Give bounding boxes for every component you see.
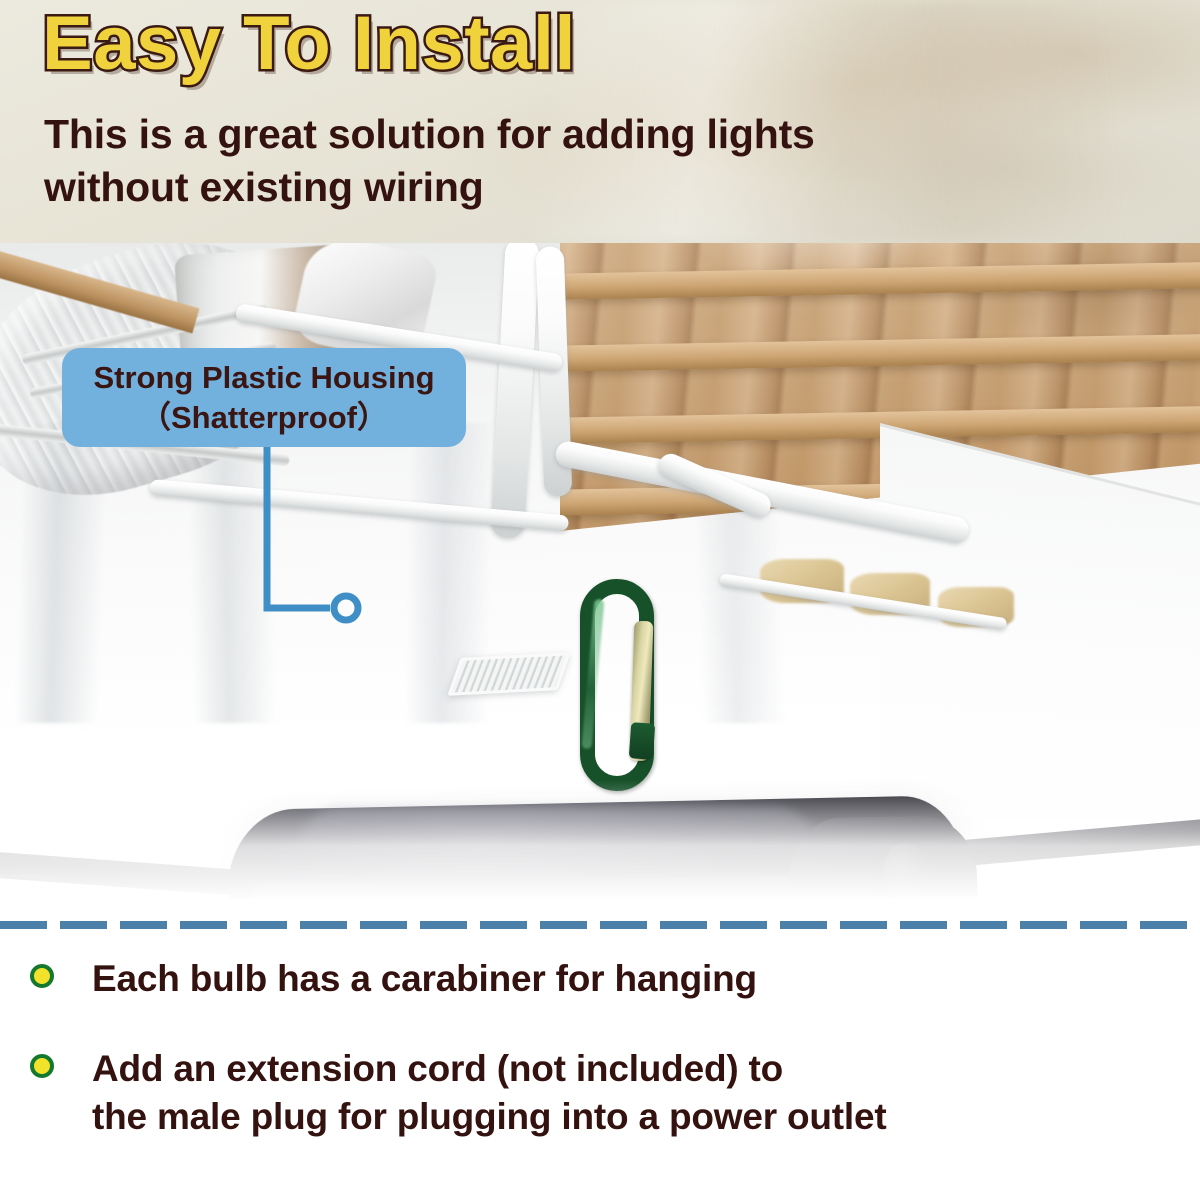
callout-line-2: （Shatterproof） xyxy=(140,398,388,438)
subtitle-line-1: This is a great solution for adding ligh… xyxy=(44,108,1054,161)
list-item: Add an extension cord (not included) to … xyxy=(0,1045,1200,1141)
page-subtitle: This is a great solution for adding ligh… xyxy=(44,108,1054,215)
bullet-marker-icon xyxy=(30,1054,54,1078)
callout-line-1: Strong Plastic Housing xyxy=(93,358,434,398)
feature-bullet-list: Each bulb has a carabiner for hanging Ad… xyxy=(0,955,1200,1183)
product-photo xyxy=(0,243,1200,900)
photo-bottom-fade xyxy=(0,780,1200,900)
subtitle-line-2: without existing wiring xyxy=(44,161,1054,214)
carabiner-gate-notch xyxy=(629,722,655,760)
carabiner-icon xyxy=(566,573,686,813)
air-vent-register xyxy=(447,652,570,696)
bullet-2-line-2: the male plug for plugging into a power … xyxy=(92,1093,886,1141)
page-title: Easy To Install xyxy=(42,6,576,82)
header-banner: Easy To Install This is a great solution… xyxy=(0,0,1200,243)
bullet-marker-icon xyxy=(30,964,54,988)
bullet-2-line-1: Add an extension cord (not included) to xyxy=(92,1045,886,1093)
callout-strong-plastic-housing: Strong Plastic Housing （Shatterproof） xyxy=(62,348,466,447)
bullet-text: Add an extension cord (not included) to … xyxy=(92,1045,886,1141)
bullet-text: Each bulb has a carabiner for hanging xyxy=(92,955,757,1003)
dashed-divider xyxy=(0,921,1200,929)
list-item: Each bulb has a carabiner for hanging xyxy=(0,955,1200,1003)
bullet-1-line-1: Each bulb has a carabiner for hanging xyxy=(92,955,757,1003)
product-feature-card: Easy To Install This is a great solution… xyxy=(0,0,1200,1200)
